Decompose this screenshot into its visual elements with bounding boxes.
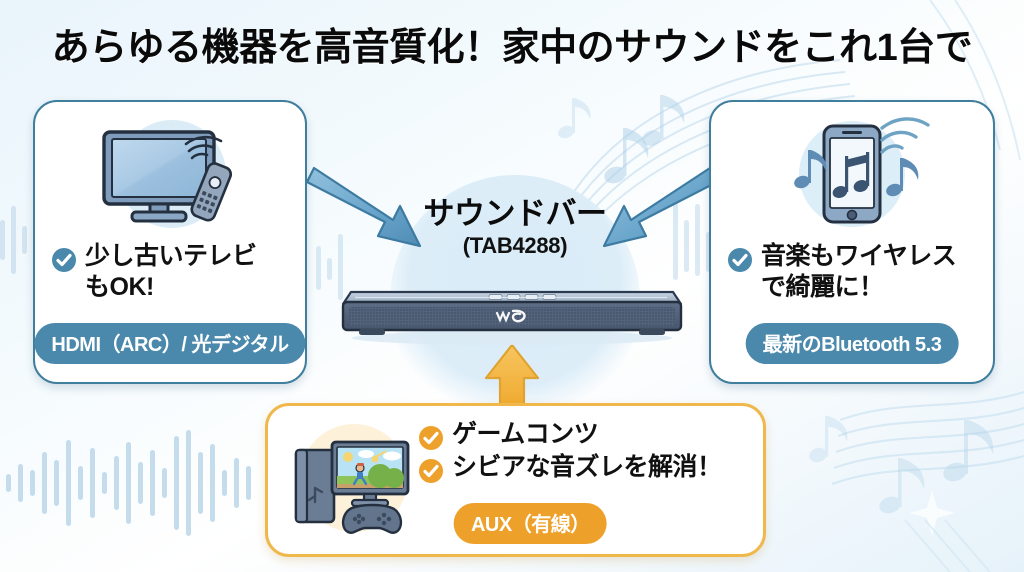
- infographic-canvas: あらゆる機器を高音質化！家中のサウンドをこれ1台で サウンドバー (TAB428…: [0, 0, 1024, 572]
- bullet-list-bluetooth: 音楽もワイヤレス で綺麗に！: [727, 242, 977, 302]
- bullet-row: 音楽もワイヤレス: [727, 242, 977, 273]
- bullet-row: シビアな音ズレを解消！: [418, 453, 748, 484]
- bullet-row: 少し古いテレビ: [51, 242, 289, 273]
- badge-aux[interactable]: AUX（有線）: [454, 503, 607, 544]
- badge-bluetooth[interactable]: 最新のBluetooth 5.3: [746, 323, 959, 364]
- arrow-bottom-to-center: [486, 345, 538, 412]
- wireless-waves-icon: [882, 118, 928, 151]
- center-device-label: サウンドバー (TAB4288): [390, 198, 640, 259]
- center-device-model: (TAB4288): [390, 233, 640, 259]
- check-circle-icon: [418, 425, 444, 451]
- tv-with-remote-icon: [35, 114, 305, 234]
- bullet-row: ゲームコンツ: [418, 420, 748, 451]
- check-circle-icon: [51, 247, 77, 273]
- bullet-text: ゲームコンツ: [452, 420, 598, 449]
- bullet-list-tv: 少し古いテレビ もOK!: [51, 242, 289, 302]
- check-circle-icon: [418, 458, 444, 484]
- bullet-text: で綺麗に！: [761, 273, 884, 302]
- game-console-icon: [282, 418, 422, 538]
- check-circle-icon: [727, 247, 753, 273]
- bullet-row: で綺麗に！: [727, 273, 977, 302]
- bullet-text: もOK!: [85, 273, 154, 302]
- bullet-row: もOK!: [51, 273, 289, 302]
- bullet-text: 少し古いテレビ: [85, 242, 257, 271]
- page-title: あらゆる機器を高音質化！家中のサウンドをこれ1台で: [0, 16, 1024, 71]
- soundbar-icon: [337, 270, 687, 345]
- smartphone-music-icon: [711, 114, 993, 234]
- center-device-title: サウンドバー: [390, 198, 640, 231]
- card-tv[interactable]: 少し古いテレビ もOK! HDMI（ARC）/ 光デジタル: [33, 100, 307, 384]
- card-bluetooth[interactable]: 音楽もワイヤレス で綺麗に！ 最新のBluetooth 5.3: [709, 100, 995, 384]
- card-game-console[interactable]: ゲームコンツ シビアな音ズレを解消！ AUX（有線）: [265, 403, 766, 557]
- badge-hdmi[interactable]: HDMI（ARC）/ 光デジタル: [34, 323, 305, 364]
- bullet-list-game: ゲームコンツ シビアな音ズレを解消！: [418, 420, 748, 484]
- bullet-text: シビアな音ズレを解消！: [452, 453, 722, 482]
- bullet-text: 音楽もワイヤレス: [761, 242, 956, 271]
